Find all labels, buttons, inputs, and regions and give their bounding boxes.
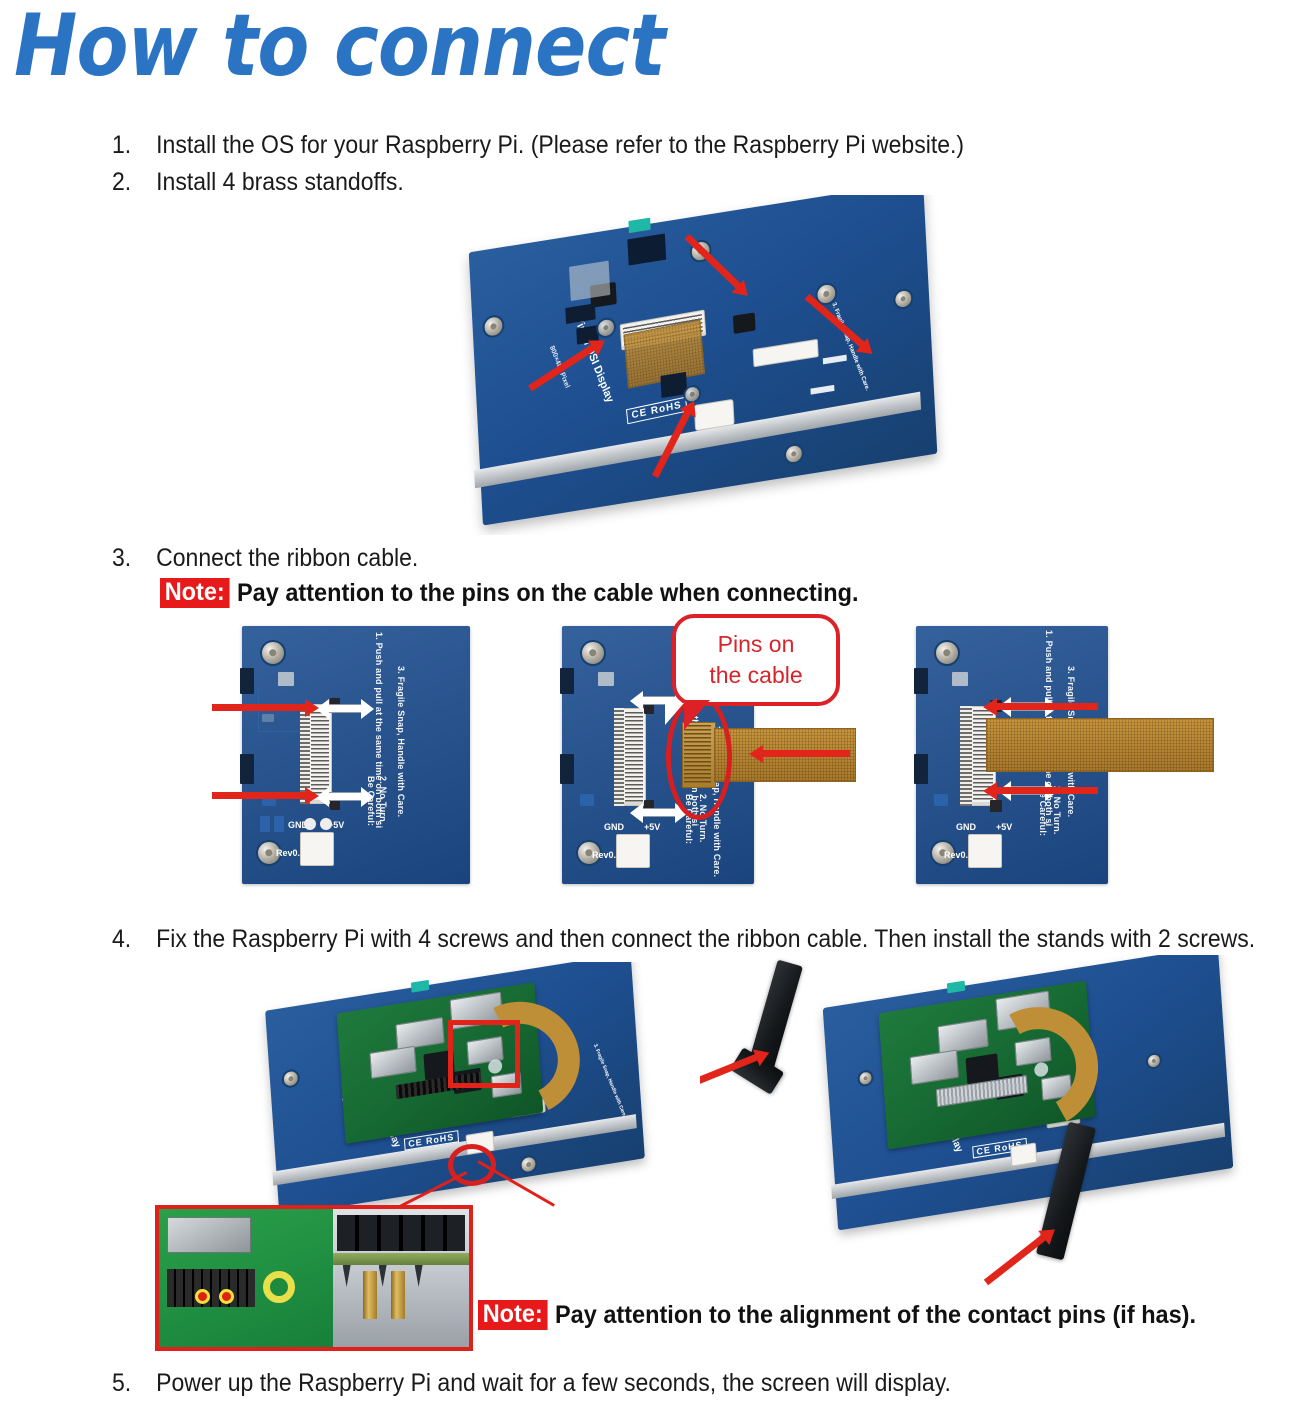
latch-motion-arrow-bottom-b	[642, 808, 676, 817]
callout-line-2: the cable	[676, 660, 836, 691]
pointer-arrow-stand-right	[984, 1234, 1047, 1285]
inset-contact-marker-1	[195, 1289, 210, 1304]
note2-body-text: Pay attention to the alignment of the co…	[555, 1301, 1196, 1330]
latch-motion-arrow-top-a	[328, 704, 362, 713]
note-contact-pins-alignment: Note: Pay attention to the alignment of …	[478, 1300, 1196, 1330]
silk-careful-2-a: 2. No Turn.	[378, 776, 388, 825]
pointer-arrow-latch-top-a	[212, 704, 306, 711]
step-number-4: 4.	[112, 925, 156, 954]
step-text-2: Install 4 brass standoffs.	[156, 168, 404, 197]
silk-careful-3-a: 3. Fragile Snap, Handle with Care.	[396, 666, 406, 817]
pcb-b-screw-top	[580, 640, 606, 666]
step-number-1: 1.	[112, 131, 156, 160]
inset-shield-can	[167, 1217, 251, 1253]
inset-pin-header	[167, 1269, 255, 1307]
highlight-rect-connector-4a	[448, 1020, 520, 1088]
inset-pcb-edge	[333, 1253, 469, 1265]
teal-tab-4b	[947, 981, 965, 994]
ribbon-cable-c	[986, 718, 1214, 772]
fpc-latch-bottom-c	[990, 800, 1002, 812]
pcb-c-smd-1	[952, 672, 968, 686]
silk-gnd-c: GND	[956, 822, 976, 832]
pcb-a-smd-5	[274, 816, 284, 832]
pcb-b-smd-edge-2	[560, 754, 574, 784]
pcb-a-smd-4	[260, 816, 270, 832]
silk-careful-4a: 3. Fragile Snap, Handle with Care.	[592, 1043, 627, 1118]
pointer-arrow-latch-top-c	[996, 703, 1098, 710]
step-number-2: 2.	[112, 168, 156, 197]
corner-screw-2	[893, 287, 914, 310]
step-item-3: 3. Connect the ribbon cable.	[112, 544, 418, 573]
pointer-arrow-latch-bottom-c	[996, 787, 1098, 794]
step-item-2: 2. Install 4 brass standoffs.	[112, 168, 404, 197]
latch-motion-arrow-bottom-a	[328, 792, 362, 801]
white-connector-1	[753, 339, 819, 367]
inset-contact-marker-2	[219, 1289, 234, 1304]
fpc-pins-c	[960, 706, 972, 806]
note-badge-label: Note:	[160, 578, 229, 608]
pi-usb2-4a	[369, 1046, 416, 1079]
pcb-a-smd-1	[278, 672, 294, 686]
inset-pin-tip-3	[415, 1265, 423, 1287]
teal-tab-4a	[411, 980, 429, 993]
board-screw-4b-2	[1145, 1052, 1162, 1071]
pcb-a-smd-edge-2	[240, 754, 254, 784]
pcb-board-a: 1. Push and pull at the same time on bot…	[242, 626, 470, 884]
pcb-a-screw-top	[260, 640, 286, 666]
display-board-body: 7inch DSI Display 800×480 Pixel CE RoHS …	[469, 195, 938, 526]
inset-pin-side-view	[333, 1209, 469, 1347]
inset-pcb-top-view	[159, 1209, 333, 1347]
step-item-4: 4. Fix the Raspberry Pi with 4 screws an…	[112, 925, 1255, 954]
smd-1	[565, 303, 595, 324]
chip-2	[733, 312, 756, 334]
step-number-5: 5.	[112, 1369, 156, 1398]
pointer-arrow-cable-b	[762, 750, 850, 757]
inset-brass-pin-2	[391, 1271, 405, 1319]
board-arrow-1	[823, 355, 847, 365]
power-connector-b	[616, 834, 650, 868]
fpc-connector-b	[622, 708, 646, 806]
corner-screw-3	[784, 442, 805, 465]
inset-pin-tip-2	[379, 1265, 387, 1287]
note2-badge-label: Note:	[478, 1300, 547, 1330]
power-pad-gnd-a	[304, 818, 316, 830]
step-item-5: 5. Power up the Raspberry Pi and wait fo…	[112, 1369, 951, 1398]
step-text-3: Connect the ribbon cable.	[156, 544, 418, 573]
corner-screw-1	[482, 314, 505, 340]
callout-tail	[684, 700, 710, 730]
step-text-5: Power up the Raspberry Pi and wait for a…	[156, 1369, 951, 1398]
callout-line-1: Pins on	[676, 629, 836, 660]
pcb-c-screw-top	[934, 640, 960, 666]
pcb-c-smd-2	[934, 794, 948, 806]
inset-pin-tip-1	[343, 1265, 351, 1287]
silk-5v-b: +5V	[644, 822, 660, 832]
pointer-arrow-latch-bottom-a	[212, 792, 306, 799]
pi-usb3-4a	[395, 1017, 444, 1051]
inset-header-side	[337, 1215, 465, 1251]
pcb-b-smd-1	[598, 672, 614, 686]
power-connector-4b	[1010, 1142, 1037, 1166]
figure-step3-cable-inserted: 1. Push and pull at the same time on bot…	[898, 618, 1218, 890]
figure-step3-cable-pins: 1. Push and pull at the same time on bot…	[530, 600, 860, 890]
figure-step2-display-board: 7inch DSI Display 800×480 Pixel CE RoHS …	[455, 195, 965, 535]
figure-step4-pi-mounted: 7inch DSI Display 800×480 Pixel CE RoHS …	[160, 962, 660, 1212]
teal-tab	[628, 218, 650, 233]
figure-step3-connector-open: 1. Push and pull at the same time on bot…	[212, 618, 477, 890]
smd-connector-top	[627, 233, 666, 265]
pcb-b-smd-edge-1	[560, 668, 574, 694]
pcb-a-smd-edge-1	[240, 668, 254, 694]
pi-usb2-4b	[910, 1050, 959, 1086]
magnified-inset-contact-pins	[155, 1205, 473, 1351]
silk-cert-marks: CE RoHS	[626, 397, 687, 425]
smd-pad-large	[569, 261, 610, 301]
figure-step4-stands-installed: 7inch DSI Display 800×480 Pixel CE RoHS	[700, 955, 1260, 1285]
callout-pins-on-cable: Pins on the cable	[672, 614, 840, 706]
silk-5v-c: +5V	[996, 822, 1012, 832]
step-number-3: 3.	[112, 544, 156, 573]
inset-brass-pin-1	[363, 1271, 377, 1319]
board-screw-4a-1	[281, 1068, 300, 1089]
board-screw-4b-1	[857, 1069, 874, 1088]
silk-gnd-b: GND	[604, 822, 624, 832]
pcb-c-smd-edge-1	[914, 668, 928, 694]
power-connector-a	[300, 832, 334, 866]
power-pad-5v-a	[320, 818, 332, 830]
board-arrow-2	[810, 385, 834, 395]
power-connector-c	[968, 834, 1002, 868]
pcb-c-smd-edge-2	[914, 754, 928, 784]
inset-mounting-hole	[263, 1271, 295, 1303]
step-text-4: Fix the Raspberry Pi with 4 screws and t…	[156, 925, 1255, 954]
step-item-1: 1. Install the OS for your Raspberry Pi.…	[112, 131, 964, 160]
fpc-pins-b	[614, 708, 624, 806]
board-screw-4a-2	[519, 1154, 538, 1175]
step-text-1: Install the OS for your Raspberry Pi. (P…	[156, 131, 964, 160]
page-title: How to connect	[14, 0, 665, 96]
pcb-b-smd-2	[580, 794, 594, 806]
